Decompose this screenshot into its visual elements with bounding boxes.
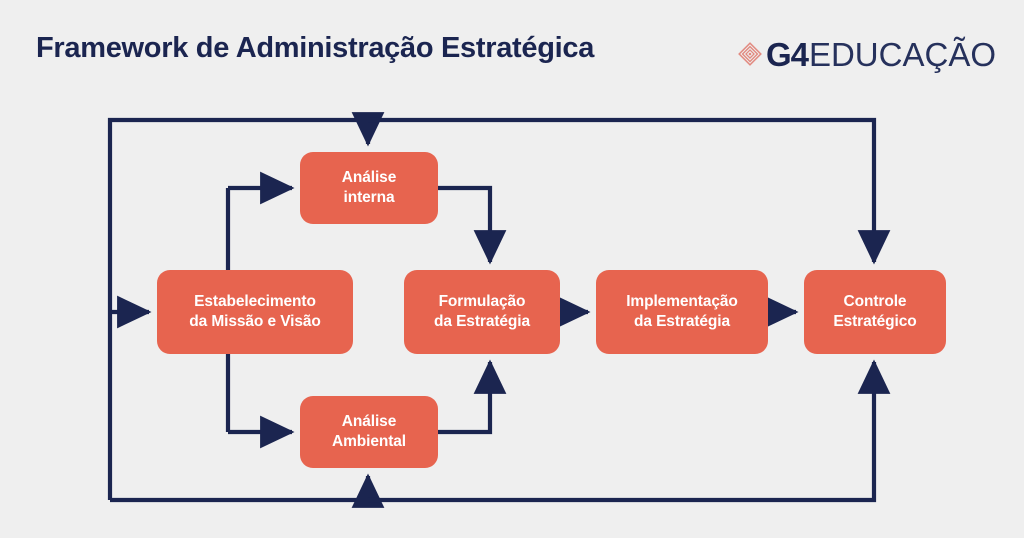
node-line-1: Implementação xyxy=(626,292,738,312)
node-formulacao-estrategia[interactable]: Formulação da Estratégia xyxy=(404,270,560,354)
g4-diamond-icon xyxy=(737,41,763,67)
brand-logo: G4 EDUCAÇÃO xyxy=(737,33,996,75)
node-line-1: Análise xyxy=(342,168,396,188)
page-title: Framework de Administração Estratégica xyxy=(36,32,594,65)
node-line-2: da Missão e Visão xyxy=(189,312,321,332)
edge-top-to-control xyxy=(368,120,874,262)
brand-secondary-text: EDUCAÇÃO xyxy=(809,38,996,71)
node-line-2: Estratégico xyxy=(833,312,916,332)
edge-internal-to-formulation xyxy=(438,188,490,262)
node-analise-ambiental[interactable]: Análise Ambiental xyxy=(300,396,438,468)
node-estabelecimento-missao-visao[interactable]: Estabelecimento da Missão e Visão xyxy=(157,270,353,354)
edge-environment-to-formulation xyxy=(438,362,490,432)
node-line-1: Análise xyxy=(332,412,406,432)
brand-primary-text: G4 xyxy=(766,38,808,71)
node-line-1: Estabelecimento xyxy=(189,292,321,312)
flowchart: Estabelecimento da Missão e Visão Anális… xyxy=(0,100,1024,538)
node-implementacao-estrategia[interactable]: Implementação da Estratégia xyxy=(596,270,768,354)
header: Framework de Administração Estratégica G… xyxy=(0,0,1024,100)
node-line-1: Formulação xyxy=(434,292,530,312)
diagram-canvas: Framework de Administração Estratégica G… xyxy=(0,0,1024,538)
node-controle-estrategico[interactable]: Controle Estratégico xyxy=(804,270,946,354)
node-line-2: Ambiental xyxy=(332,432,406,452)
node-line-2: interna xyxy=(342,188,396,208)
node-analise-interna[interactable]: Análise interna xyxy=(300,152,438,224)
node-line-2: da Estratégia xyxy=(434,312,530,332)
node-line-2: da Estratégia xyxy=(626,312,738,332)
node-line-1: Controle xyxy=(833,292,916,312)
